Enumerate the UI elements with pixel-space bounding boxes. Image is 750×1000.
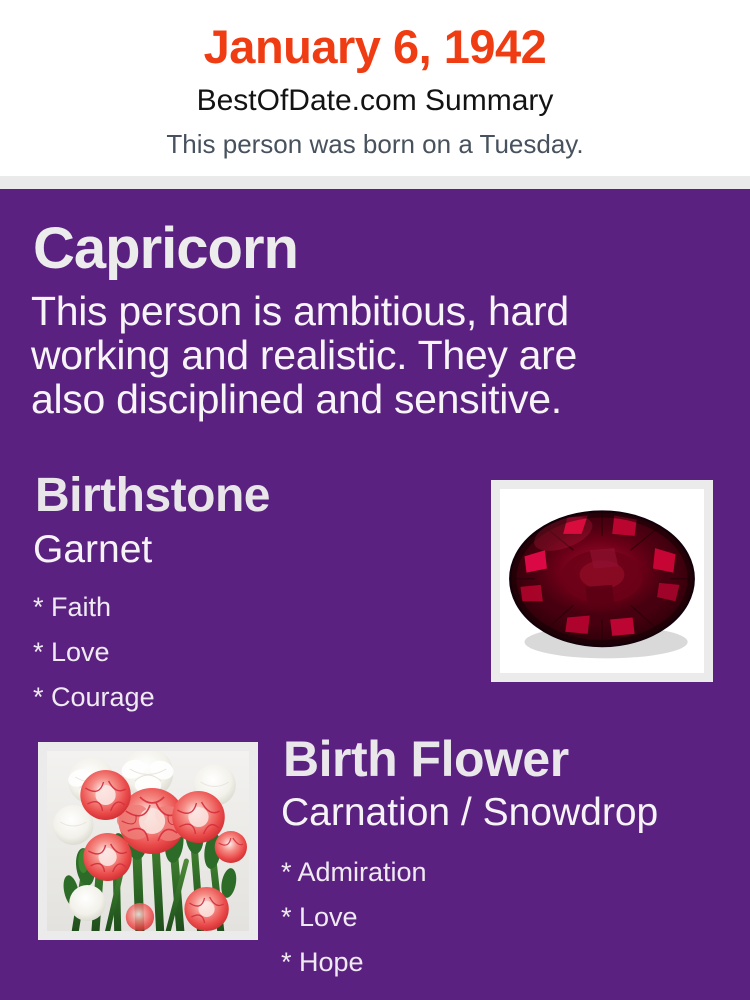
list-item: * Hope [281,940,427,985]
birthstone-image-frame [491,480,713,682]
birthstone-heading: Birthstone [35,472,270,520]
born-day-text: This person was born on a Tuesday. [0,131,750,157]
list-item: * Courage [33,675,155,720]
birthstone-name: Garnet [33,530,152,569]
carnation-bouquet-icon [47,751,249,931]
birth-flower-heading: Birth Flower [283,734,569,784]
zodiac-sign-heading: Capricorn [33,220,298,278]
birthstone-image [500,489,704,673]
birth-flower-image-frame [38,742,258,940]
birth-flower-image [47,751,249,931]
list-item: * Admiration [281,850,427,895]
birth-flower-name: Carnation / Snowdrop [281,793,658,832]
site-summary-label: BestOfDate.com Summary [0,86,750,116]
list-item: * Love [33,630,155,675]
birth-flower-trait-list: * Admiration * Love * Hope [281,850,427,985]
header: January 6, 1942 BestOfDate.com Summary T… [0,0,750,176]
birthstone-trait-list: * Faith * Love * Courage [33,585,155,720]
list-item: * Faith [33,585,155,630]
infographic-page: January 6, 1942 BestOfDate.com Summary T… [0,0,750,1000]
garnet-gemstone-icon [500,489,704,673]
page-title-date: January 6, 1942 [0,23,750,70]
list-item: * Love [281,895,427,940]
header-divider [0,176,750,189]
content-panel: Capricorn This person is ambitious, hard… [0,189,750,1000]
zodiac-description: This person is ambitious, hard working a… [31,289,657,421]
